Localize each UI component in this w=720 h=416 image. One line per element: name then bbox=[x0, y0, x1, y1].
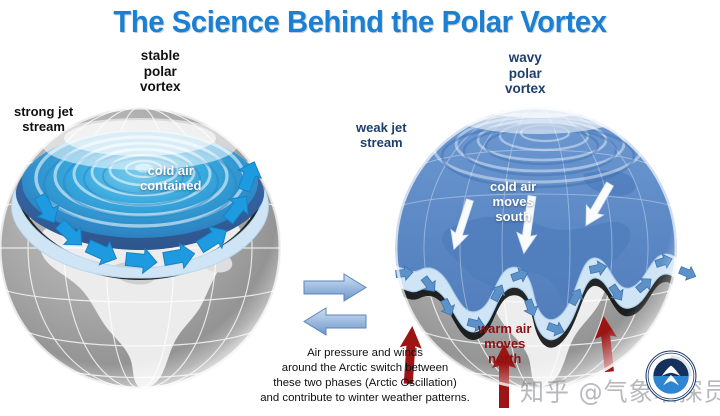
label-weak-jet-stream: weak jet stream bbox=[356, 120, 407, 150]
phase-exchange-arrows bbox=[300, 268, 380, 342]
arrow-left-icon bbox=[304, 308, 366, 335]
label-cold-air-moves-south: cold air moves south bbox=[490, 179, 536, 224]
caption-text: Air pressure and winds around the Arctic… bbox=[200, 346, 530, 407]
page-title: The Science Behind the Polar Vortex bbox=[22, 4, 699, 40]
label-cold-air-contained: cold air contained bbox=[140, 163, 201, 193]
noaa-logo-year: 1970 bbox=[667, 361, 675, 365]
infographic-canvas: The Science Behind the Polar Vortex bbox=[0, 0, 720, 416]
label-stable-polar-vortex: stable polar vortex bbox=[140, 48, 181, 95]
label-wavy-polar-vortex: wavy polar vortex bbox=[505, 50, 546, 97]
label-strong-jet-stream: strong jet stream bbox=[14, 104, 73, 134]
arrow-right-icon bbox=[304, 274, 366, 301]
noaa-logo: 1970 bbox=[645, 350, 697, 402]
